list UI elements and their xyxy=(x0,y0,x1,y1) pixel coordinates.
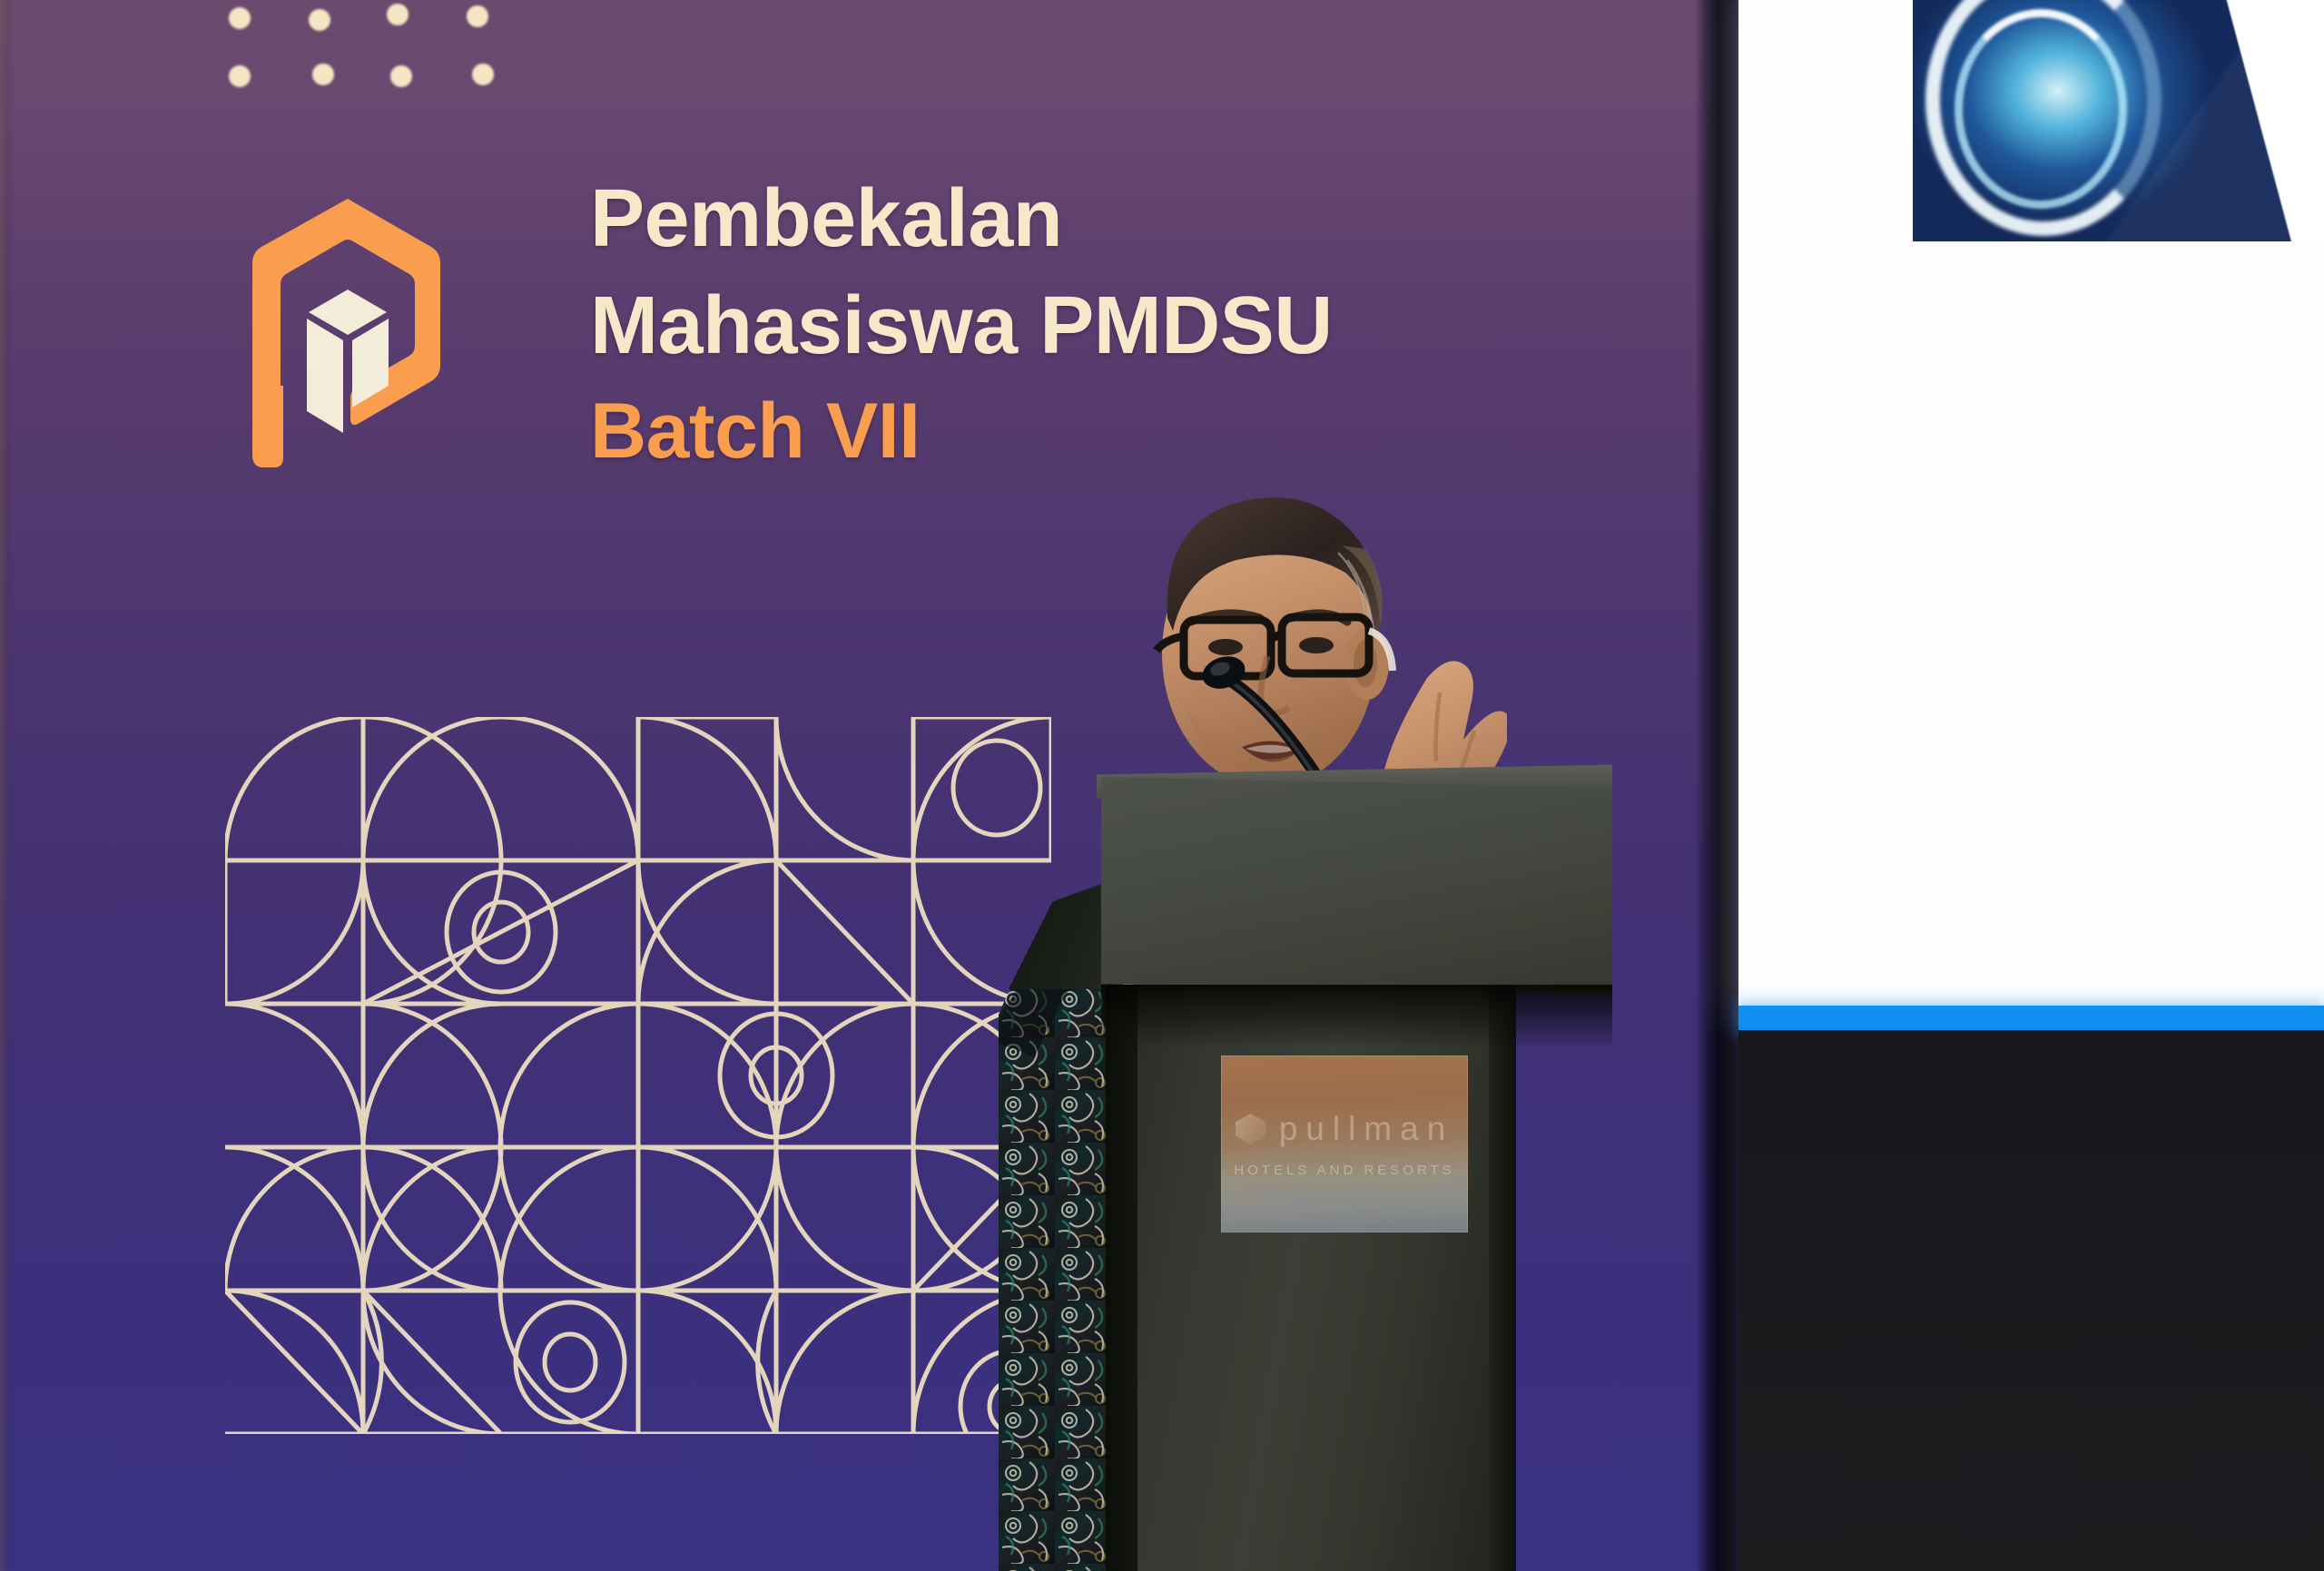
plaque-subtitle-text: HOTELS AND RESORTS xyxy=(1234,1163,1454,1178)
screen-left-frame xyxy=(1718,0,1740,1571)
decorative-dot-grid xyxy=(229,0,519,109)
dot xyxy=(472,64,494,85)
screen-accent-band xyxy=(1738,1006,2324,1030)
lectern-brand-plaque: pullman HOTELS AND RESORTS xyxy=(1221,1056,1468,1232)
geometric-line-pattern xyxy=(225,717,1051,1434)
dot xyxy=(390,65,412,87)
pullman-mark-icon xyxy=(1236,1114,1266,1144)
swirl-ring-inner xyxy=(1955,9,2127,209)
pullman-logo: pullman xyxy=(1236,1110,1454,1148)
dot xyxy=(312,64,334,85)
dot xyxy=(309,9,330,31)
lectern-front-face xyxy=(1101,777,1612,995)
conference-photo-scene: Pembekalan Mahasiswa PMDSU Batch VII xyxy=(0,0,2324,1571)
dot xyxy=(229,7,251,29)
headline-line-2: Mahasiswa PMDSU xyxy=(590,285,1589,367)
screen-lower-dark-panel xyxy=(1738,1030,2324,1571)
backdrop-headline: Pembekalan Mahasiswa PMDSU Batch VII xyxy=(590,178,1589,496)
dot xyxy=(467,5,488,27)
lectern-column-right-edge xyxy=(1489,985,1516,1571)
headline-line-1: Pembekalan xyxy=(590,178,1589,260)
backdrop-right-edge-shadow xyxy=(1695,0,1718,1571)
pmdsu-hexagon-cube-logo xyxy=(243,195,452,472)
screen-inset-image xyxy=(1913,0,2324,241)
backdrop-left-edge-highlight xyxy=(0,0,15,1571)
screen-inset-white-corner xyxy=(2188,0,2324,241)
lectern-under-shadow xyxy=(1101,985,1612,1048)
plaque-brand-text: pullman xyxy=(1279,1110,1454,1148)
dot xyxy=(229,65,251,87)
dot xyxy=(387,4,409,25)
